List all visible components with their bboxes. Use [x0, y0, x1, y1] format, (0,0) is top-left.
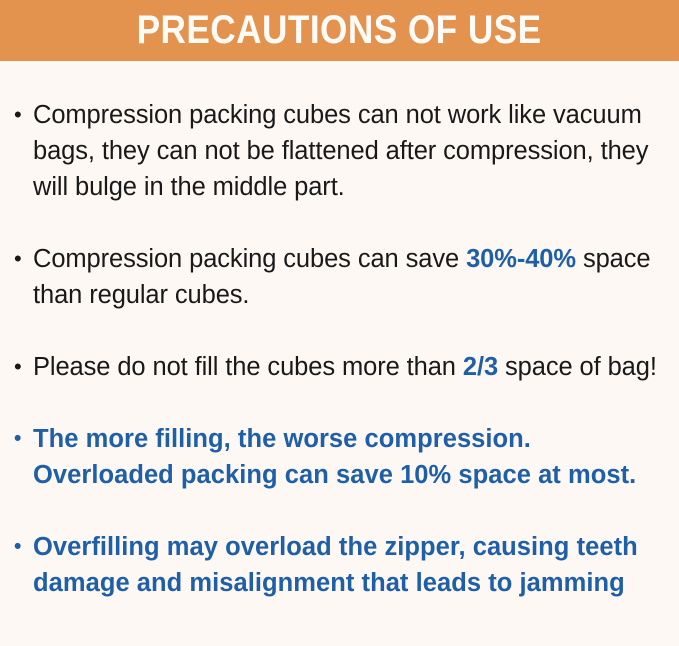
text-segment: Overfilling may overload the zipper, cau… [33, 533, 638, 597]
list-item-text: Overfilling may overload the zipper, cau… [33, 529, 668, 601]
page-title: PRECAUTIONS OF USE [137, 10, 542, 50]
precautions-list: •Compression packing cubes can not work … [0, 61, 679, 601]
list-item-text: Compression packing cubes can save 30%-4… [33, 241, 668, 313]
highlighted-value: 2/3 [463, 353, 498, 381]
list-item: •Compression packing cubes can save 30%-… [14, 241, 668, 313]
list-item-text: Compression packing cubes can not work l… [33, 97, 668, 205]
text-segment: space of bag! [498, 353, 657, 381]
text-segment: Please do not fill the cubes more than [33, 353, 463, 381]
list-item-text: Please do not fill the cubes more than 2… [33, 349, 668, 385]
list-item: •Overfilling may overload the zipper, ca… [14, 529, 668, 601]
text-segment: Compression packing cubes can not work l… [33, 101, 648, 201]
list-item: •Compression packing cubes can not work … [14, 97, 668, 205]
bullet-icon: • [14, 349, 33, 384]
bullet-icon: • [14, 97, 33, 132]
bullet-icon: • [14, 241, 33, 276]
list-item-text: The more filling, the worse compression.… [33, 421, 668, 493]
bullet-icon: • [14, 421, 33, 456]
highlighted-value: 30%-40% [466, 245, 576, 273]
text-segment: Compression packing cubes can save [33, 245, 466, 273]
precautions-poster: PRECAUTIONS OF USE •Compression packing … [0, 0, 679, 646]
text-segment: The more filling, the worse compression.… [33, 425, 636, 489]
bullet-icon: • [14, 529, 33, 564]
list-item: •The more filling, the worse compression… [14, 421, 668, 493]
header-banner: PRECAUTIONS OF USE [0, 0, 679, 61]
list-item: •Please do not fill the cubes more than … [14, 349, 668, 385]
